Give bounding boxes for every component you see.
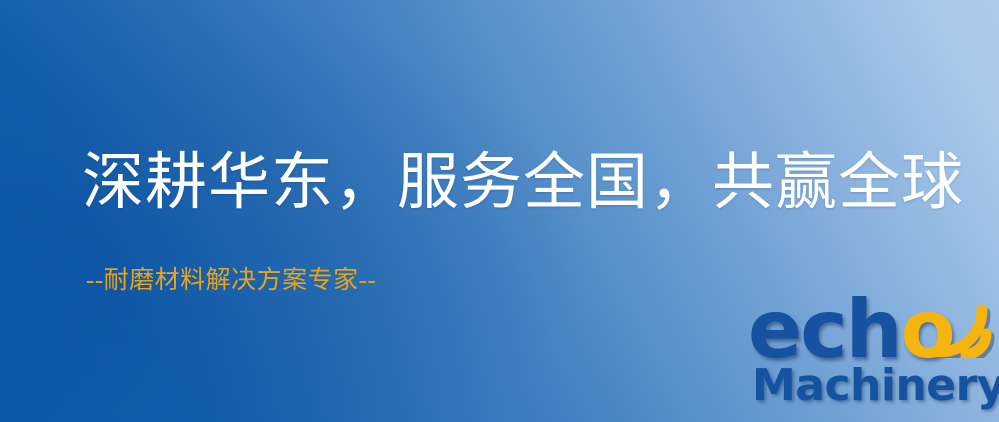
echo-waves-icon xyxy=(922,292,999,358)
logo-subtext: Machinery® xyxy=(752,364,999,408)
logo-subtext-label: Machinery xyxy=(752,360,999,411)
banner-headline: 深耕华东，服务全国，共赢全球 xyxy=(82,152,964,214)
banner-subtitle: --耐磨材料解决方案专家-- xyxy=(86,268,376,293)
company-logo[interactable]: echo Machinery® xyxy=(742,296,999,422)
hero-banner: 深耕华东，服务全国，共赢全球 --耐磨材料解决方案专家-- echo Machi… xyxy=(0,0,999,422)
